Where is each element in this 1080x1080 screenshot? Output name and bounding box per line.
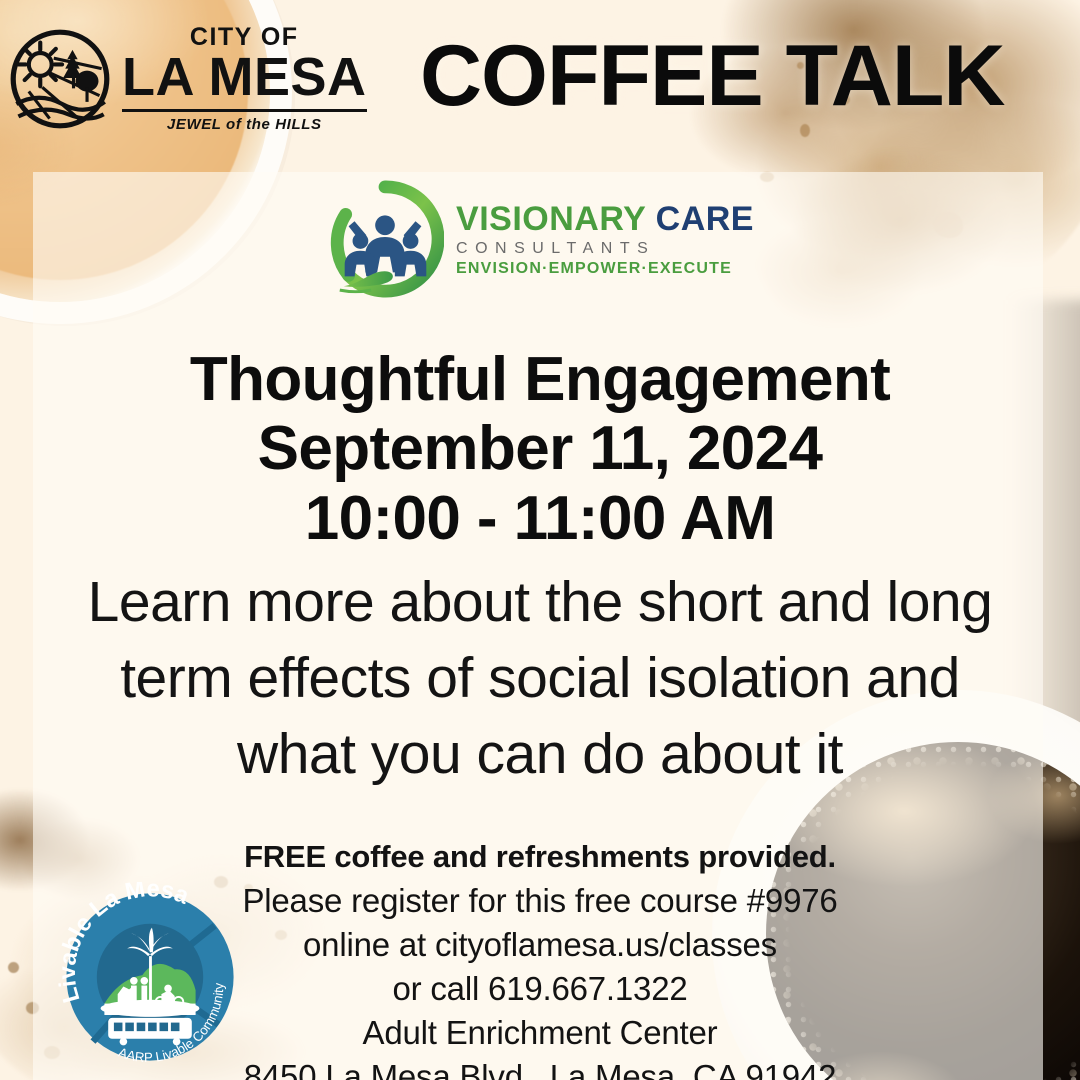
- city-of-la-mesa-logo: CITY OF LA MESA JEWEL of the HILLS: [8, 25, 367, 132]
- coffee-talk-flyer: CITY OF LA MESA JEWEL of the HILLS COFFE…: [0, 0, 1080, 1080]
- description-line: term effects of social isolation and: [0, 641, 1080, 717]
- event-topic: Thoughtful Engagement: [0, 345, 1080, 414]
- sponsor-logo: VISIONARY CARE CONSULTANTS ENVISION·EMPO…: [0, 180, 1080, 298]
- flyer-content: CITY OF LA MESA JEWEL of the HILLS COFFE…: [0, 0, 1080, 1080]
- event-headline-block: Thoughtful Engagement September 11, 2024…: [0, 345, 1080, 553]
- city-seal-icon: [8, 27, 112, 131]
- header: CITY OF LA MESA JEWEL of the HILLS COFFE…: [0, 14, 1080, 144]
- sponsor-name: VISIONARY CARE: [456, 202, 754, 236]
- city-tagline: JEWEL of the HILLS: [167, 116, 322, 133]
- description-line: Learn more about the short and long: [0, 565, 1080, 641]
- event-time: 10:00 - 11:00 AM: [0, 484, 1080, 553]
- city-name: LA MESA: [122, 50, 367, 105]
- wordmark-divider: [122, 109, 367, 112]
- event-series-title: COFFEE TALK: [367, 27, 1080, 126]
- sponsor-name-primary: VISIONARY: [456, 200, 646, 238]
- livable-la-mesa-badge: Livable La Mesa AARP Livable Community: [55, 882, 245, 1072]
- sponsor-subtitle: CONSULTANTS: [456, 241, 754, 257]
- event-description: Learn more about the short and long term…: [0, 565, 1080, 792]
- city-wordmark: CITY OF LA MESA JEWEL of the HILLS: [122, 25, 367, 132]
- sponsor-name-secondary: CARE: [656, 200, 754, 238]
- visionary-care-circle-icon: [326, 180, 444, 298]
- event-date: September 11, 2024: [0, 414, 1080, 483]
- sponsor-tagline: ENVISION·EMPOWER·EXECUTE: [456, 261, 754, 277]
- free-refreshments-note: FREE coffee and refreshments provided.: [0, 838, 1080, 875]
- sponsor-wordmark: VISIONARY CARE CONSULTANTS ENVISION·EMPO…: [456, 202, 754, 277]
- description-line: what you can do about it: [0, 717, 1080, 793]
